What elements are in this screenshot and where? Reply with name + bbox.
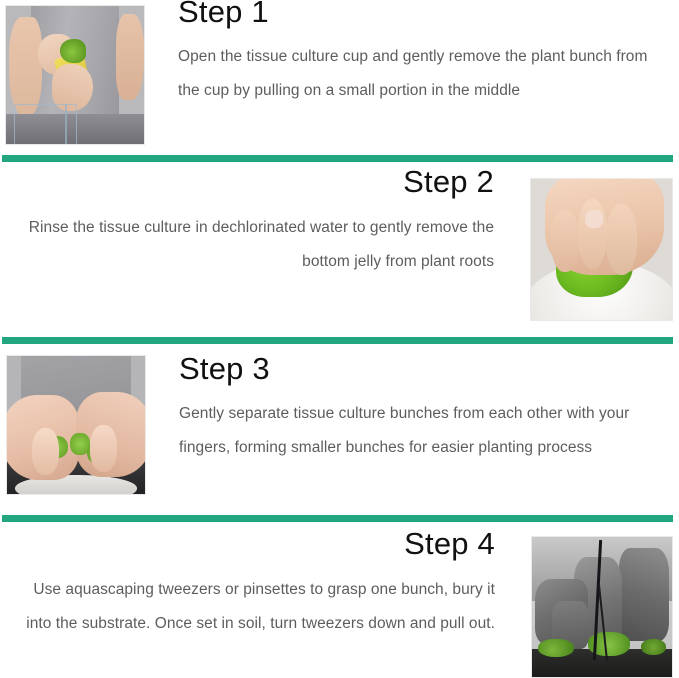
divider-1 xyxy=(2,155,673,162)
step-1-body: Open the tissue culture cup and gently r… xyxy=(178,27,655,108)
step-4-artwork xyxy=(532,537,672,677)
step-1-artwork xyxy=(6,6,144,144)
step-2-body: Rinse the tissue culture in dechlorinate… xyxy=(24,197,494,279)
step-3-body: Gently separate tissue culture bunches f… xyxy=(179,384,655,465)
step-2-image xyxy=(530,178,673,321)
step-4-body: Use aquascaping tweezers or pinsettes to… xyxy=(24,559,495,641)
step-2-artwork xyxy=(531,179,672,320)
step-2-text-column: Step 2 Rinse the tissue culture in dechl… xyxy=(0,162,530,279)
step-row-3: Step 3 Gently separate tissue culture bu… xyxy=(0,344,679,515)
step-3-image xyxy=(6,355,146,495)
divider-3 xyxy=(2,515,673,522)
step-1-heading: Step 1 xyxy=(178,0,655,27)
step-3-heading: Step 3 xyxy=(179,344,655,384)
divider-2 xyxy=(2,337,673,344)
step-row-1: Step 1 Open the tissue culture cup and g… xyxy=(0,0,679,155)
step-3-artwork xyxy=(7,356,145,494)
instruction-graphic: Step 1 Open the tissue culture cup and g… xyxy=(0,0,679,678)
step-1-image xyxy=(5,5,145,145)
step-3-text-column: Step 3 Gently separate tissue culture bu… xyxy=(146,344,679,465)
step-row-4: Step 4 Use aquascaping tweezers or pinse… xyxy=(0,522,679,678)
step-4-text-column: Step 4 Use aquascaping tweezers or pinse… xyxy=(0,522,531,641)
step-4-image xyxy=(531,536,673,678)
step-row-2: Step 2 Rinse the tissue culture in dechl… xyxy=(0,162,679,337)
step-2-heading: Step 2 xyxy=(24,162,494,197)
step-1-text-column: Step 1 Open the tissue culture cup and g… xyxy=(145,0,679,108)
step-4-heading: Step 4 xyxy=(24,522,495,559)
